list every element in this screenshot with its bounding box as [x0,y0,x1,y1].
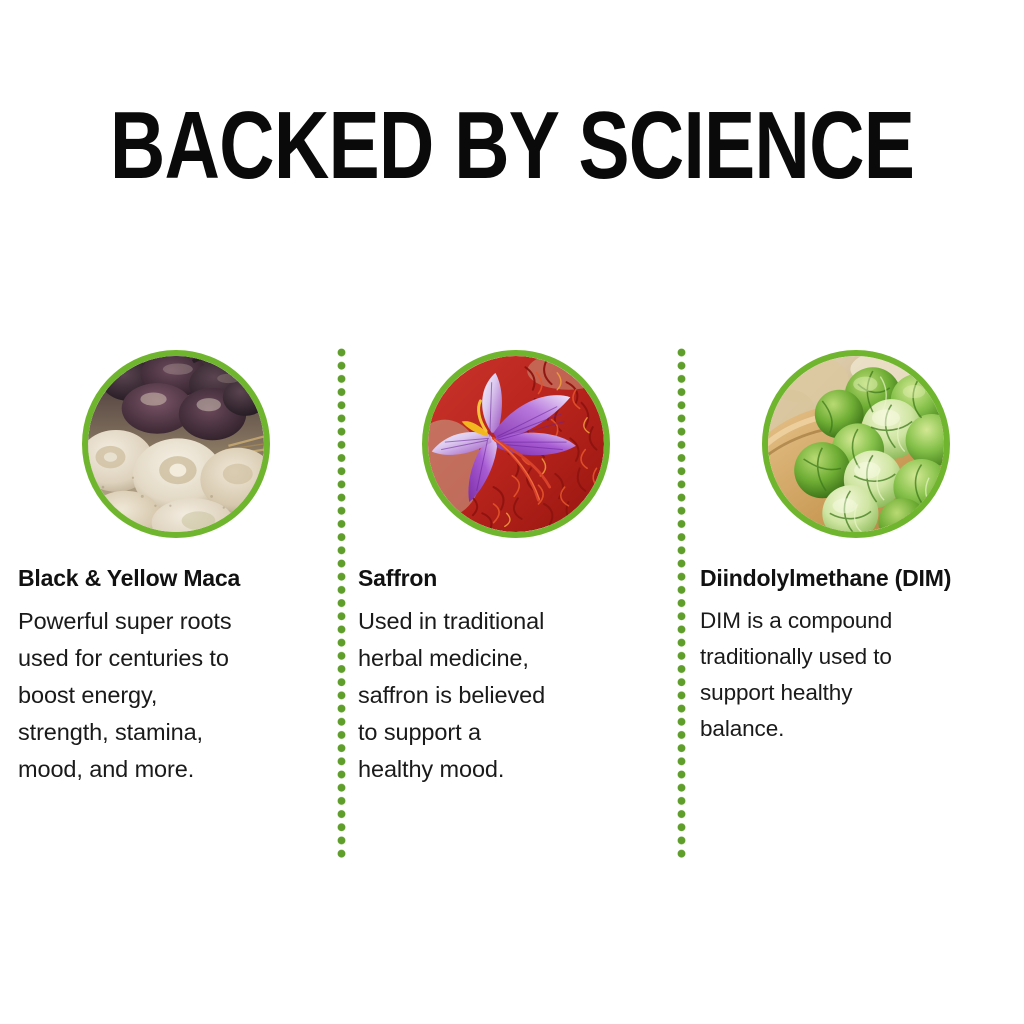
ingredient-description: Powerful super roots used for centuries … [18,603,338,788]
ingredient-description: DIM is a compound traditionally used to … [700,603,1020,747]
page-title: BACKED BY SCIENCE [102,98,921,194]
ingredient-card-saffron: Saffron Used in traditional herbal medic… [358,350,678,788]
ingredient-title: Diindolylmethane (DIM) [700,564,1020,593]
ingredient-columns: Black & Yellow Maca Powerful super roots… [0,350,1024,890]
ingredient-card-maca: Black & Yellow Maca Powerful super roots… [18,350,338,788]
brussels-sprouts-image [768,356,944,532]
saffron-image [428,356,604,532]
brussels-sprouts-photo [762,350,950,538]
saffron-photo [422,350,610,538]
ingredient-description: Used in traditional herbal medicine, saf… [358,603,678,788]
ingredient-title: Black & Yellow Maca [18,564,338,593]
maca-roots-image [88,356,264,532]
ingredient-card-dim: Diindolylmethane (DIM) DIM is a compound… [700,350,1020,747]
ingredient-title: Saffron [358,564,678,593]
maca-roots-photo [82,350,270,538]
